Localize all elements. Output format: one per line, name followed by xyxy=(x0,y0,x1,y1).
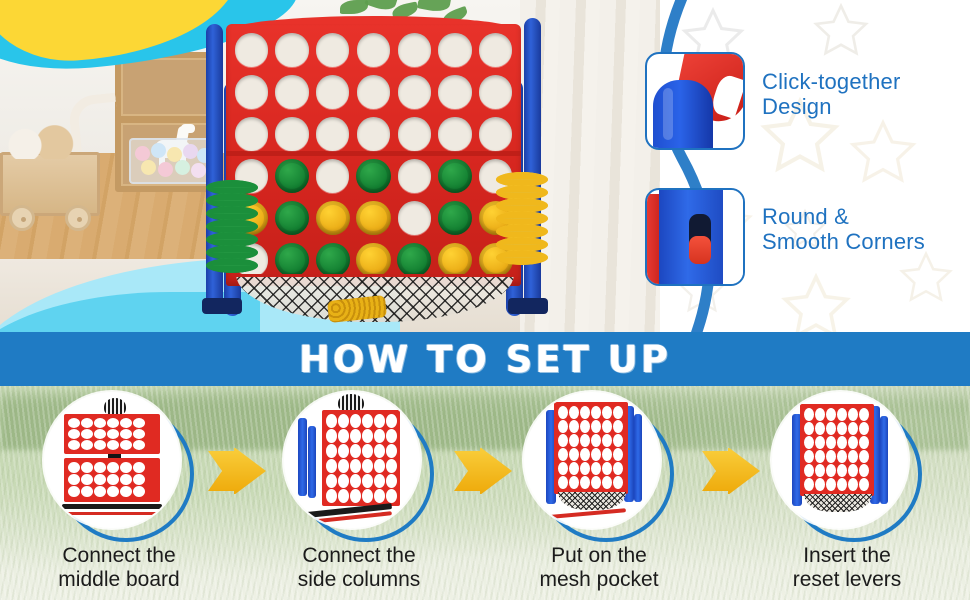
step-4-image xyxy=(772,392,908,528)
setup-steps-section: Connect the middle board xyxy=(0,386,970,600)
step-4-line1: Insert the xyxy=(747,544,947,568)
green-coin xyxy=(438,159,472,193)
board-cell-r1-c3 xyxy=(313,30,352,70)
empty-hole xyxy=(438,33,471,66)
callout-click-together-image xyxy=(645,52,745,150)
board-cell-r3-c7 xyxy=(476,114,515,154)
board-cell-r2-c6 xyxy=(436,72,475,112)
empty-hole xyxy=(316,159,349,192)
green-coin xyxy=(397,243,431,277)
callout-click-together-label: Click-together Design xyxy=(762,70,901,119)
hero-section: Click-together Design Round & Smooth Cor… xyxy=(0,0,970,332)
yellow-coin xyxy=(438,243,472,277)
board-cell-r1-c5 xyxy=(395,30,434,70)
step-2-line1: Connect the xyxy=(259,544,459,568)
board-cell-r3-c4 xyxy=(354,114,393,154)
empty-hole xyxy=(316,33,349,66)
empty-hole xyxy=(357,117,390,150)
board-cell-r5-c4 xyxy=(354,198,393,238)
board-cell-r3-c5 xyxy=(395,114,434,154)
yellow-coin-stack xyxy=(496,172,548,264)
green-coin xyxy=(275,201,309,235)
step-1-caption: Connect the middle board xyxy=(19,544,219,593)
step-1: Connect the middle board xyxy=(44,392,194,542)
empty-hole xyxy=(438,75,471,108)
callout-round-smooth-label: Round & Smooth Corners xyxy=(762,205,925,254)
yellow-coin xyxy=(356,201,390,235)
step-2-line2: side columns xyxy=(259,568,459,592)
callout-2-line1: Round & xyxy=(762,205,925,230)
empty-hole xyxy=(438,117,471,150)
board-seam xyxy=(226,151,521,156)
star-watermark-icon xyxy=(846,118,920,188)
banner-title: HOW TO SET UP xyxy=(0,332,970,386)
board-cell-r1-c2 xyxy=(273,30,312,70)
empty-hole xyxy=(316,117,349,150)
step-1-line2: middle board xyxy=(19,568,219,592)
empty-hole xyxy=(235,33,268,66)
step-2-caption: Connect the side columns xyxy=(259,544,459,593)
board-cell-r2-c7 xyxy=(476,72,515,112)
empty-hole xyxy=(398,117,431,150)
empty-hole xyxy=(479,75,512,108)
step-4-line2: reset levers xyxy=(747,568,947,592)
board-cell-r5-c2 xyxy=(273,198,312,238)
step-1-line1: Connect the xyxy=(19,544,219,568)
step-2-image xyxy=(284,392,420,528)
board-cell-r1-c7 xyxy=(476,30,515,70)
empty-hole xyxy=(316,75,349,108)
board-cell-r1-c4 xyxy=(354,30,393,70)
callout-2-line2: Smooth Corners xyxy=(762,230,925,255)
board-cell-r3-c6 xyxy=(436,114,475,154)
board-cell-r3-c3 xyxy=(313,114,352,154)
empty-hole xyxy=(479,117,512,150)
empty-hole xyxy=(275,117,308,150)
step-4-caption: Insert the reset levers xyxy=(747,544,947,593)
green-coin xyxy=(275,159,309,193)
how-to-set-up-banner: HOW TO SET UP xyxy=(0,332,970,386)
step-3: Put on the mesh pocket xyxy=(524,392,674,542)
toy-cart xyxy=(0,152,100,216)
post-right-front xyxy=(524,18,541,310)
empty-hole xyxy=(398,201,431,234)
board-cell-r4-c2 xyxy=(273,156,312,196)
board-cell-r5-c6 xyxy=(436,198,475,238)
empty-hole xyxy=(235,117,268,150)
green-coin-stack xyxy=(206,180,258,272)
yellow-coin xyxy=(316,201,350,235)
empty-hole xyxy=(357,33,390,66)
step-3-line1: Put on the xyxy=(499,544,699,568)
board-cell-r3-c1 xyxy=(232,114,271,154)
board-cell-r5-c3 xyxy=(313,198,352,238)
star-watermark-icon xyxy=(896,250,956,306)
callout-1-line2: Design xyxy=(762,95,901,120)
board-cell-r4-c5 xyxy=(395,156,434,196)
board-cell-r2-c5 xyxy=(395,72,434,112)
empty-hole xyxy=(275,33,308,66)
empty-hole xyxy=(357,75,390,108)
green-coin xyxy=(356,159,390,193)
board-cell-r1-c1 xyxy=(232,30,271,70)
step-3-caption: Put on the mesh pocket xyxy=(499,544,699,593)
step-4: Insert the reset levers xyxy=(772,392,922,542)
empty-hole xyxy=(479,33,512,66)
step-3-image xyxy=(524,392,660,528)
connect-four-game xyxy=(178,6,568,328)
arrow-step-1-to-2-icon xyxy=(206,448,268,494)
board-cell-r4-c3 xyxy=(313,156,352,196)
board-cell-r2-c3 xyxy=(313,72,352,112)
empty-hole xyxy=(235,75,268,108)
board-cell-r4-c6 xyxy=(436,156,475,196)
callout-1-line1: Click-together xyxy=(762,70,901,95)
empty-hole xyxy=(398,159,431,192)
board-cell-r4-c4 xyxy=(354,156,393,196)
empty-hole xyxy=(398,33,431,66)
board-cell-r5-c5 xyxy=(395,198,434,238)
foot-right xyxy=(508,298,548,314)
empty-hole xyxy=(275,75,308,108)
arrow-step-3-to-4-icon xyxy=(700,448,762,494)
board-cell-r2-c2 xyxy=(273,72,312,112)
yellow-coin xyxy=(356,243,390,277)
step-1-image xyxy=(44,392,180,528)
board-cell-r1-c6 xyxy=(436,30,475,70)
arrow-step-2-to-3-icon xyxy=(452,448,514,494)
star-watermark-icon xyxy=(810,2,872,60)
step-3-line2: mesh pocket xyxy=(499,568,699,592)
green-coin xyxy=(275,243,309,277)
green-coin xyxy=(316,243,350,277)
foot-left xyxy=(202,298,242,314)
infographic-page: Click-together Design Round & Smooth Cor… xyxy=(0,0,970,600)
board-cell-r3-c2 xyxy=(273,114,312,154)
callout-round-smooth-image xyxy=(645,188,745,286)
board-cell-r2-c1 xyxy=(232,72,271,112)
empty-hole xyxy=(398,75,431,108)
step-2: Connect the side columns xyxy=(284,392,434,542)
board-cell-r2-c4 xyxy=(354,72,393,112)
green-coin xyxy=(438,201,472,235)
